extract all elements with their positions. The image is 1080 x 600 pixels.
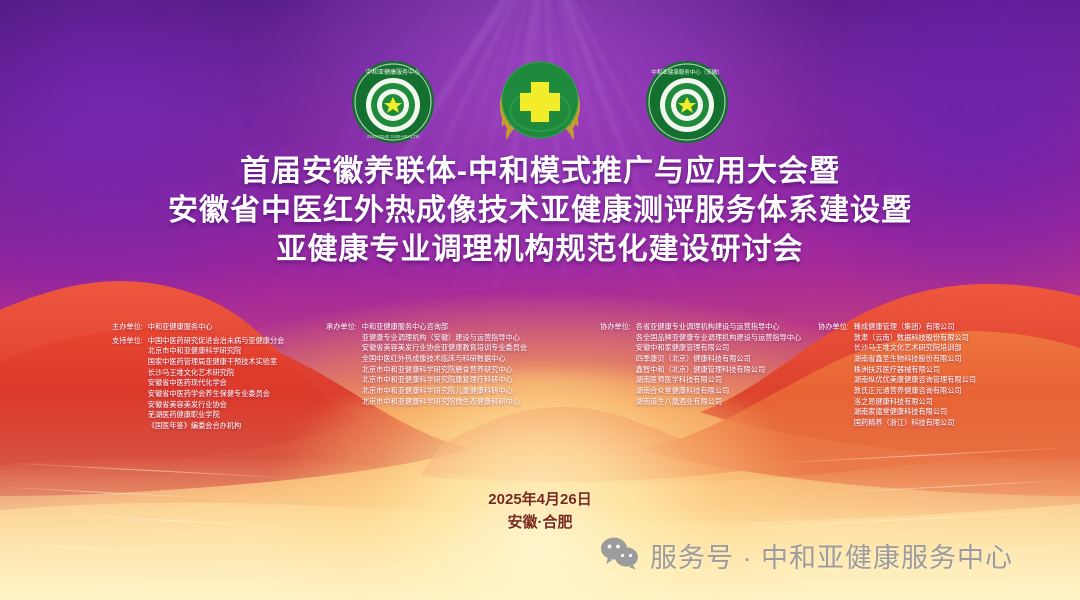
organizer-item: 北京市中和亚健康科学研究院康复理疗科研中心 bbox=[362, 375, 527, 386]
organizer-item: 四季康贝（北京）健康科技有限公司 bbox=[636, 354, 801, 365]
undertaker-row: 承办单位: 中和亚健康服务中心咨询部亚健康专业调理机构（安徽）建设与运营指导中心… bbox=[326, 322, 527, 407]
organizer-item: 《国医年鉴》编委会合办机构 bbox=[148, 421, 285, 432]
organizer-item: 鑫智中和（北京）健康管理科技有限公司 bbox=[636, 365, 801, 376]
organizer-item: 湖南纵优优美康健康咨询管理有限公司 bbox=[854, 375, 976, 386]
organizer-column-undertaker: 承办单位: 中和亚健康服务中心咨询部亚健康专业调理机构（安徽）建设与运营指导中心… bbox=[326, 322, 527, 407]
organizer-item: 臻成健康管理（集团）有限公司 bbox=[854, 322, 976, 333]
wechat-footer: 服务号 · 中和亚健康服务中心 bbox=[600, 536, 1013, 575]
undertaker-list: 中和亚健康服务中心咨询部亚健康专业调理机构（安徽）建设与运营指导中心安徽省美容美… bbox=[362, 322, 527, 407]
coorganizer-1-list: 各省亚健康专业调理机构建设与运营指导中心各全国品牌亚健康专业调理机构建设与运营指… bbox=[636, 322, 801, 407]
organizer-item: 长沙马王堆文化艺术研究院 bbox=[148, 368, 285, 379]
organizer-item: 国家中医药管理局亚健康干预技术实验室 bbox=[148, 357, 285, 368]
organizer-item: 中和亚健康服务中心咨询部 bbox=[362, 322, 527, 333]
organizer-columns: 主办单位: 中和亚健康服务中心 支持单位: 中国中医药研究促进会治未病与亚健康分… bbox=[0, 322, 1080, 442]
conference-title: 首届安徽养联体-中和模式推广与应用大会暨 安徽省中医红外热成像技术亚健康测评服务… bbox=[0, 152, 1080, 269]
zhonghe-branch-emblem-icon: 中和亚健康服务中心（安徽） bbox=[645, 60, 729, 144]
conference-banner: 中和亚健康服务中心 ZHONGHE SUB-HEALTH bbox=[0, 0, 1080, 600]
organizer-item: 北京市中和亚健康科学研究院 bbox=[148, 346, 285, 357]
svg-text:中和亚健康服务中心: 中和亚健康服务中心 bbox=[366, 68, 420, 76]
emblem-row: 中和亚健康服务中心 ZHONGHE SUB-HEALTH bbox=[0, 52, 1080, 152]
organizer-item: 北京市中和亚健康科学研究院微生态健康科研中心 bbox=[362, 397, 527, 408]
zhonghe-subhealth-emblem-icon: 中和亚健康服务中心 ZHONGHE SUB-HEALTH bbox=[351, 60, 435, 144]
organizer-item: 安徽省中医药现代化学会 bbox=[148, 378, 285, 389]
organizer-item: 各省亚健康专业调理机构建设与运营指导中心 bbox=[636, 322, 801, 333]
organizer-item: 湖南家德堂健康科技有限公司 bbox=[854, 407, 976, 418]
coorganizer-2-list: 臻成健康管理（集团）有限公司敦肃（云南）数据科技股份有限公司长沙马王堆文化艺术研… bbox=[854, 322, 976, 429]
host-value: 中和亚健康服务中心 bbox=[148, 322, 213, 333]
organizer-item: 全国中医红外热成像技术临床与科研数据中心 bbox=[362, 354, 527, 365]
host-row: 主办单位: 中和亚健康服务中心 bbox=[112, 322, 284, 333]
organizer-item: 长沙马王堆文化艺术研究院培训部 bbox=[854, 343, 976, 354]
organizer-item: 敦肃（云南）数据科技股份有限公司 bbox=[854, 333, 976, 344]
organizer-item: 湖南道生八凰酒业有限公司 bbox=[636, 397, 801, 408]
organizer-item: 湖南合众堂健康科技有限公司 bbox=[636, 386, 801, 397]
organizer-item: 洛之昂健康科技有限公司 bbox=[854, 397, 976, 408]
organizer-item: 敦氏正元通营养健康咨询有限公司 bbox=[854, 386, 976, 397]
organizer-item: 安徽省美容美发行业协会 bbox=[148, 400, 285, 411]
coorganizer-1-row: 协办单位: 各省亚健康专业调理机构建设与运营指导中心各全国品牌亚健康专业调理机构… bbox=[600, 322, 801, 407]
coorganizer-2-row: 协办单位: 臻成健康管理（集团）有限公司敦肃（云南）数据科技股份有限公司长沙马王… bbox=[818, 322, 976, 429]
organizer-column-coorganizer-1: 协办单位: 各省亚健康专业调理机构建设与运营指导中心各全国品牌亚健康专业调理机构… bbox=[600, 322, 801, 407]
support-label: 支持单位: bbox=[112, 336, 143, 432]
coorganizer-2-label: 协办单位: bbox=[818, 322, 849, 429]
title-line-1: 首届安徽养联体-中和模式推广与应用大会暨 bbox=[0, 152, 1080, 191]
svg-text:中和亚健康服务中心（安徽）: 中和亚健康服务中心（安徽） bbox=[651, 68, 723, 76]
title-line-2: 安徽省中医红外热成像技术亚健康测评服务体系建设暨 bbox=[0, 191, 1080, 230]
organizer-item: 安徽省美容美发行业协会亚健康教育培训专业委员会 bbox=[362, 343, 527, 354]
undertaker-label: 承办单位: bbox=[326, 322, 357, 407]
green-cross-wreath-emblem-icon bbox=[481, 53, 599, 151]
organizer-item: 国药精养（浙江）科技有限公司 bbox=[854, 418, 976, 429]
title-line-3: 亚健康专业调理机构规范化建设研讨会 bbox=[0, 230, 1080, 269]
support-list: 中国中医药研究促进会治未病与亚健康分会北京市中和亚健康科学研究院国家中医药管理局… bbox=[148, 336, 285, 432]
svg-text:ZHONGHE SUB-HEALTH: ZHONGHE SUB-HEALTH bbox=[367, 134, 419, 139]
coorganizer-1-label: 协办单位: bbox=[600, 322, 631, 407]
organizer-item: 湖南医师医学科技有限公司 bbox=[636, 375, 801, 386]
wechat-icon bbox=[600, 536, 640, 575]
organizer-column-host: 主办单位: 中和亚健康服务中心 支持单位: 中国中医药研究促进会治未病与亚健康分… bbox=[112, 322, 284, 432]
wechat-account-text: 服务号 · 中和亚健康服务中心 bbox=[650, 536, 1013, 575]
support-row: 支持单位: 中国中医药研究促进会治未病与亚健康分会北京市中和亚健康科学研究院国家… bbox=[112, 336, 284, 432]
organizer-column-coorganizer-2: 协办单位: 臻成健康管理（集团）有限公司敦肃（云南）数据科技股份有限公司长沙马王… bbox=[818, 322, 976, 429]
organizer-item: 各全国品牌亚健康专业调理机构建设与运营指导中心 bbox=[636, 333, 801, 344]
organizer-item: 北京市中和亚健康科学研究院儿童健康科研中心 bbox=[362, 386, 527, 397]
organizer-item: 安徽省中医药学会养生保健专业委员会 bbox=[148, 389, 285, 400]
organizer-item: 株洲扶苏医疗器械有限公司 bbox=[854, 365, 976, 376]
organizer-item: 芜湖医药健康职业学院 bbox=[148, 410, 285, 421]
host-label: 主办单位: bbox=[112, 322, 143, 333]
organizer-item: 中国中医药研究促进会治未病与亚健康分会 bbox=[148, 336, 285, 347]
organizer-item: 安徽中和家健康管理有限公司 bbox=[636, 343, 801, 354]
organizer-item: 北京市中和亚健康科学研究院膳食营养研究中心 bbox=[362, 365, 527, 376]
event-date-block: 2025年4月26日 安徽·合肥 bbox=[0, 488, 1080, 535]
organizer-item: 亚健康专业调理机构（安徽）建设与运营指导中心 bbox=[362, 333, 527, 344]
event-location: 安徽·合肥 bbox=[0, 511, 1080, 534]
organizer-item: 湖南省鑫圣生物科技股份有限公司 bbox=[854, 354, 976, 365]
event-date: 2025年4月26日 bbox=[0, 488, 1080, 511]
